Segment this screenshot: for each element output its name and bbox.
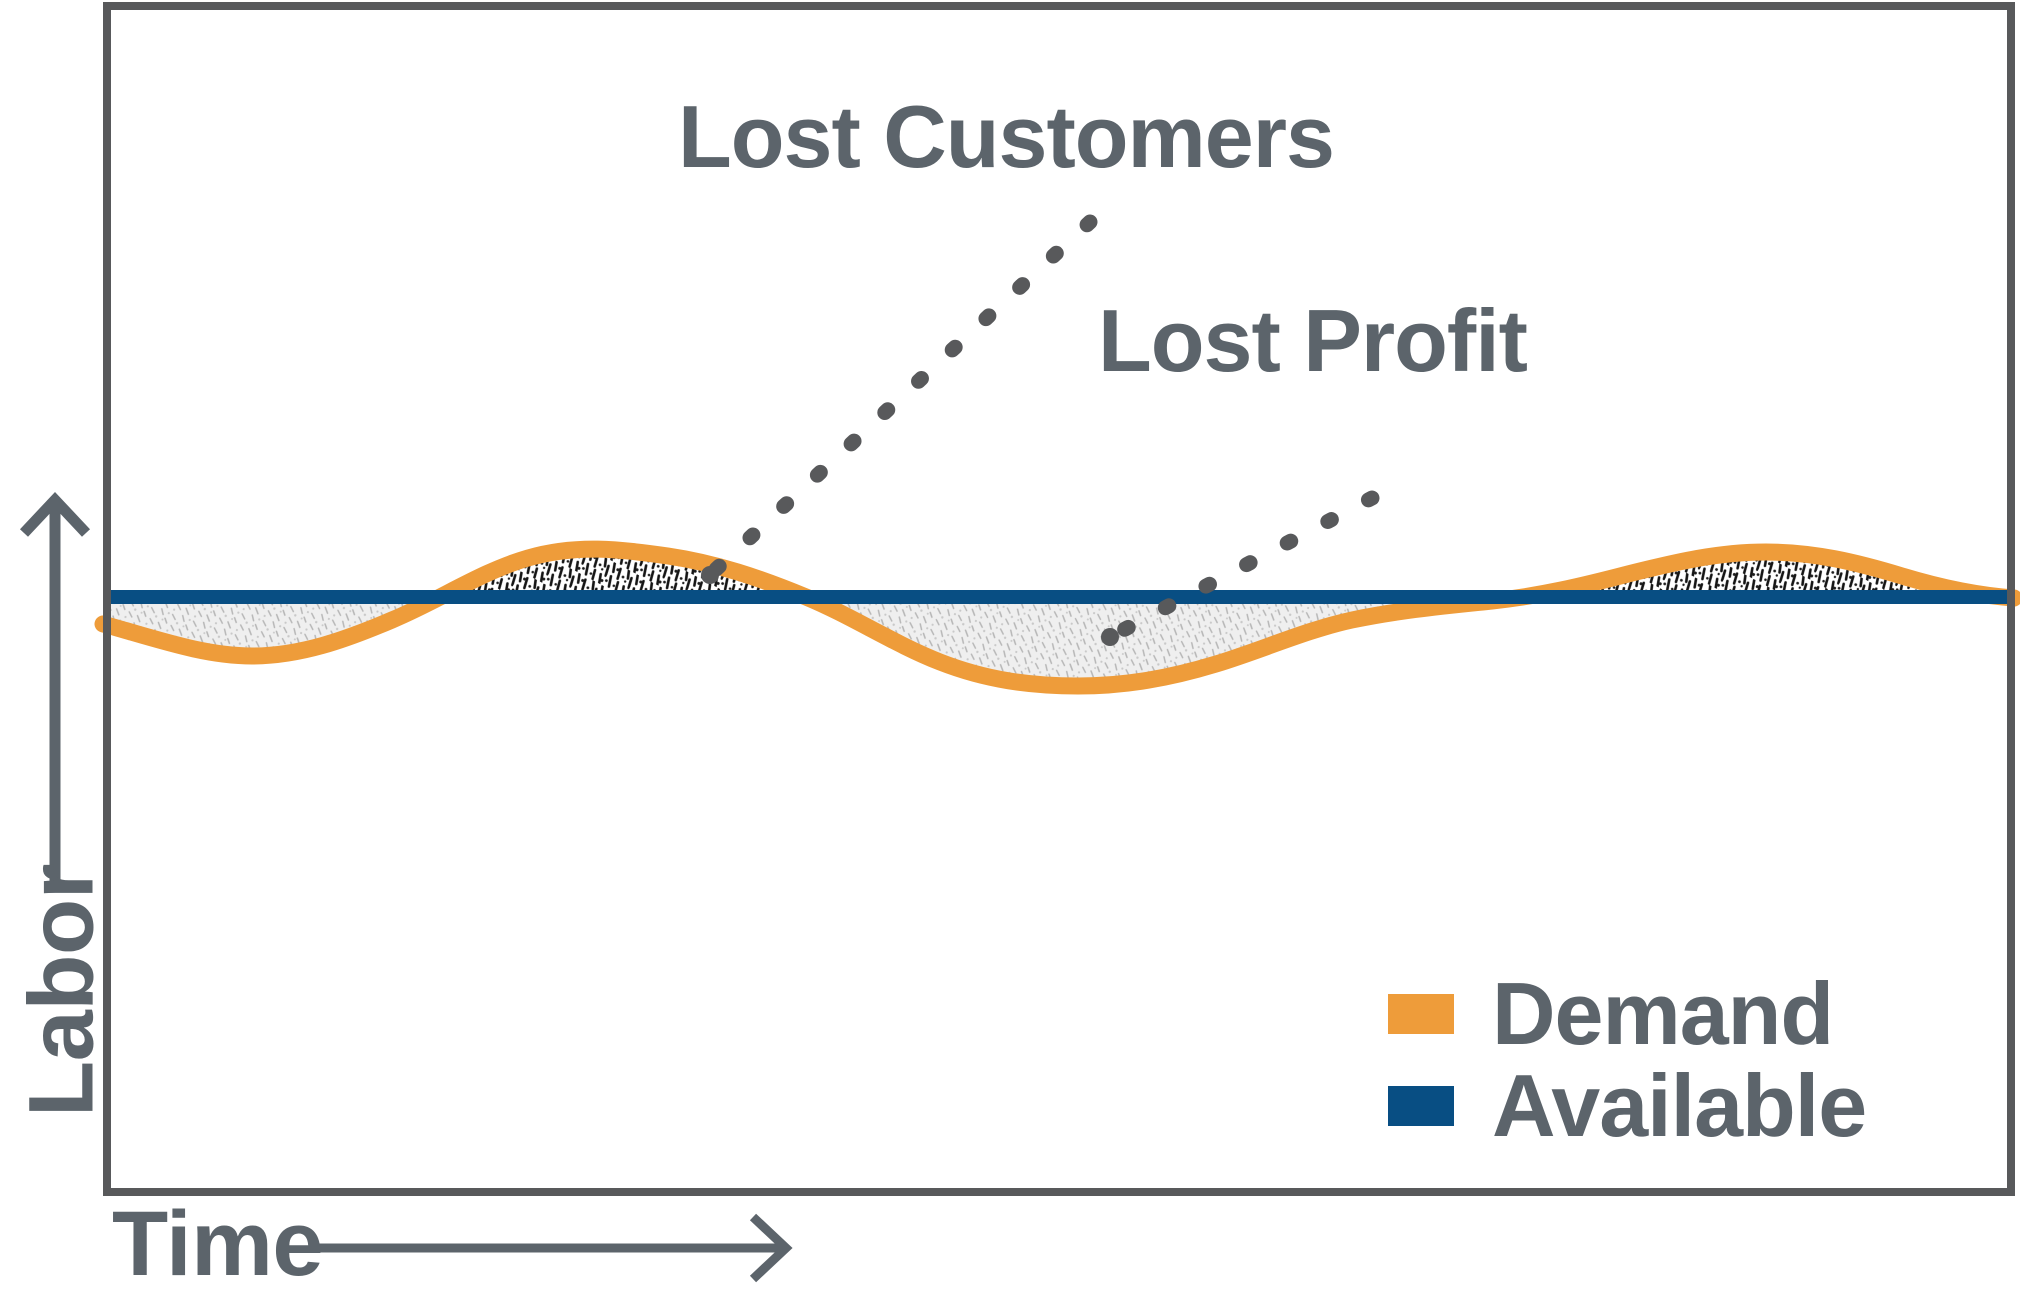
x-axis-arrow-icon: [310, 1217, 786, 1279]
legend-label-available: Available: [1492, 1062, 1866, 1150]
lost-profit-annotation: Lost Profit: [1098, 290, 1527, 392]
y-axis-label: Labor: [10, 831, 115, 1151]
lost-customers-leader-dot: [701, 566, 719, 584]
y-axis-arrow-icon: [24, 500, 86, 886]
legend-item-demand: Demand: [1388, 968, 1948, 1060]
chart-canvas: Labor Time Lost Customers Lost Profit De…: [0, 0, 2020, 1300]
legend-label-demand: Demand: [1492, 970, 1833, 1058]
lost-profit-leader-dot: [1101, 628, 1119, 646]
legend-item-available: Available: [1388, 1060, 1948, 1152]
legend-swatch-available: [1388, 1086, 1454, 1126]
lost-customers-leader-line: [712, 222, 1090, 573]
chart-legend: Demand Available: [1388, 968, 1948, 1152]
lost-customers-annotation: Lost Customers: [678, 86, 1334, 188]
legend-swatch-demand: [1388, 994, 1454, 1034]
x-axis-label: Time: [112, 1192, 323, 1297]
